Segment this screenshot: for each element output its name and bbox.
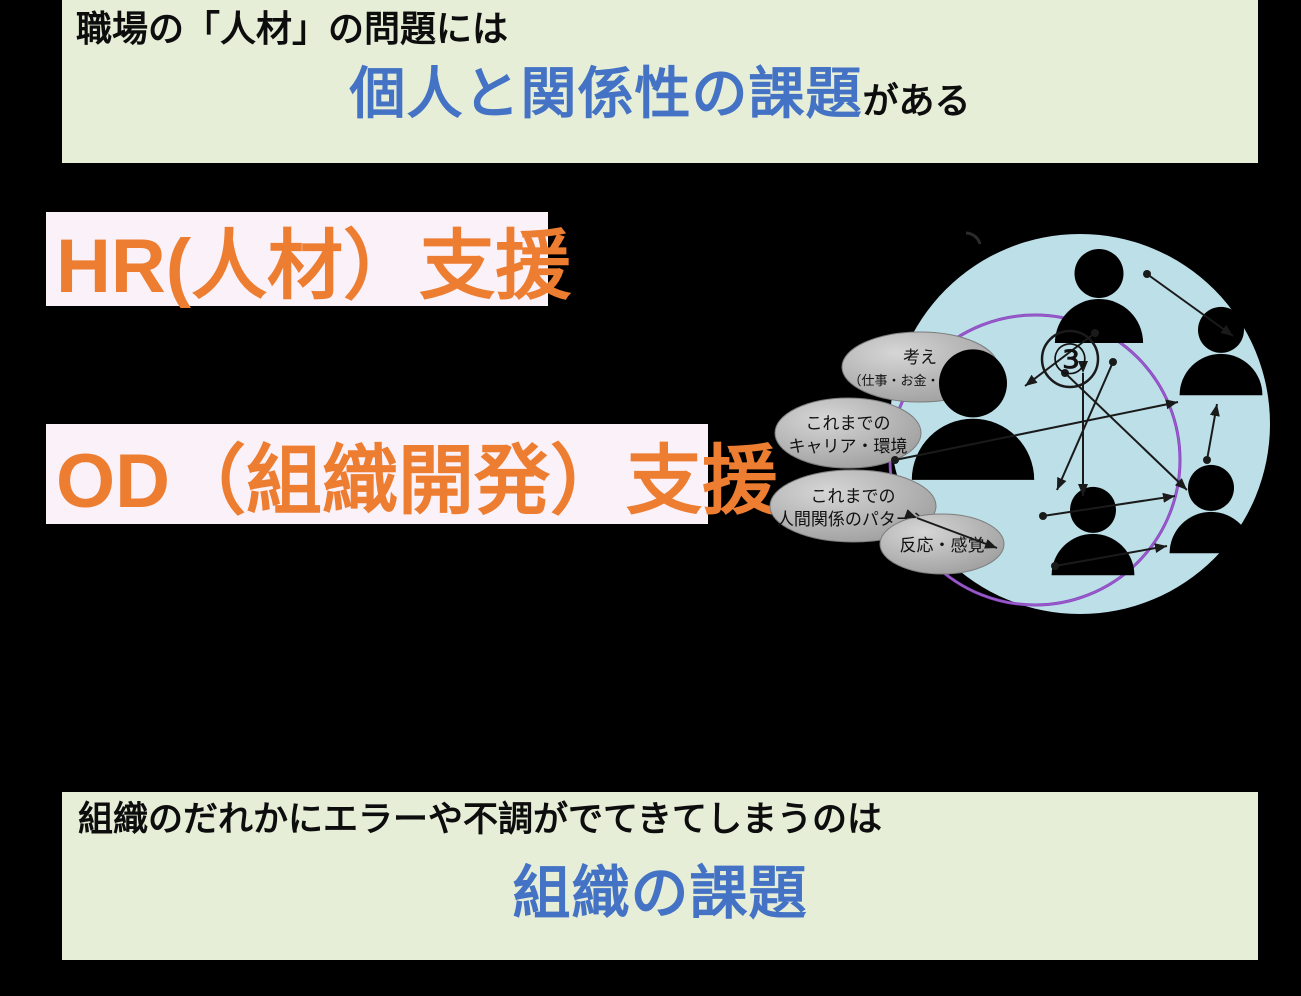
bubble-career: これまでの キャリア・環境 — [775, 398, 921, 468]
hr-support-text: HR(人材）支援 — [56, 204, 571, 314]
bubble-thoughts-line1: 考え — [903, 348, 937, 367]
top-banner-emphasis: 個人と関係性の課題 — [349, 62, 862, 125]
top-banner-line1: 職場の「人材」の問題には — [76, 6, 1258, 51]
org-individual-diagram: 考え （仕事・お金・生き方） これまでの キャリア・環境 これまでの 人間関係の… — [735, 228, 1280, 620]
marker-two-partial — [966, 233, 980, 244]
od-support-text: OD（組織開発）支援 — [56, 419, 778, 529]
od-support-label: OD（組織開発）支援 — [46, 424, 708, 524]
bottom-banner-line2: 組織の課題 — [62, 846, 1258, 930]
bottom-banner: 組織のだれかにエラーや不調がでてきてしまうのは 組織の課題 — [62, 792, 1258, 960]
bubble-relationship-line1: これまでの — [811, 487, 896, 506]
top-banner: 職場の「人材」の問題には 個人と関係性の課題がある — [62, 0, 1258, 163]
slide-canvas: 職場の「人材」の問題には 個人と関係性の課題がある HR(人材）支援 OD（組織… — [0, 0, 1301, 996]
bottom-banner-line1: 組織のだれかにエラーや不調がでてきてしまうのは — [78, 798, 1258, 842]
bubble-career-line1: これまでの — [806, 414, 891, 433]
hr-support-label: HR(人材）支援 — [46, 212, 548, 306]
marker-three-label: ③ — [1051, 338, 1089, 384]
bottom-banner-emphasis: 組織の課題 — [512, 861, 807, 926]
top-banner-tail: がある — [862, 80, 970, 121]
bubble-career-line2: キャリア・環境 — [789, 437, 908, 456]
top-banner-line2: 個人と関係性の課題がある — [62, 49, 1258, 130]
